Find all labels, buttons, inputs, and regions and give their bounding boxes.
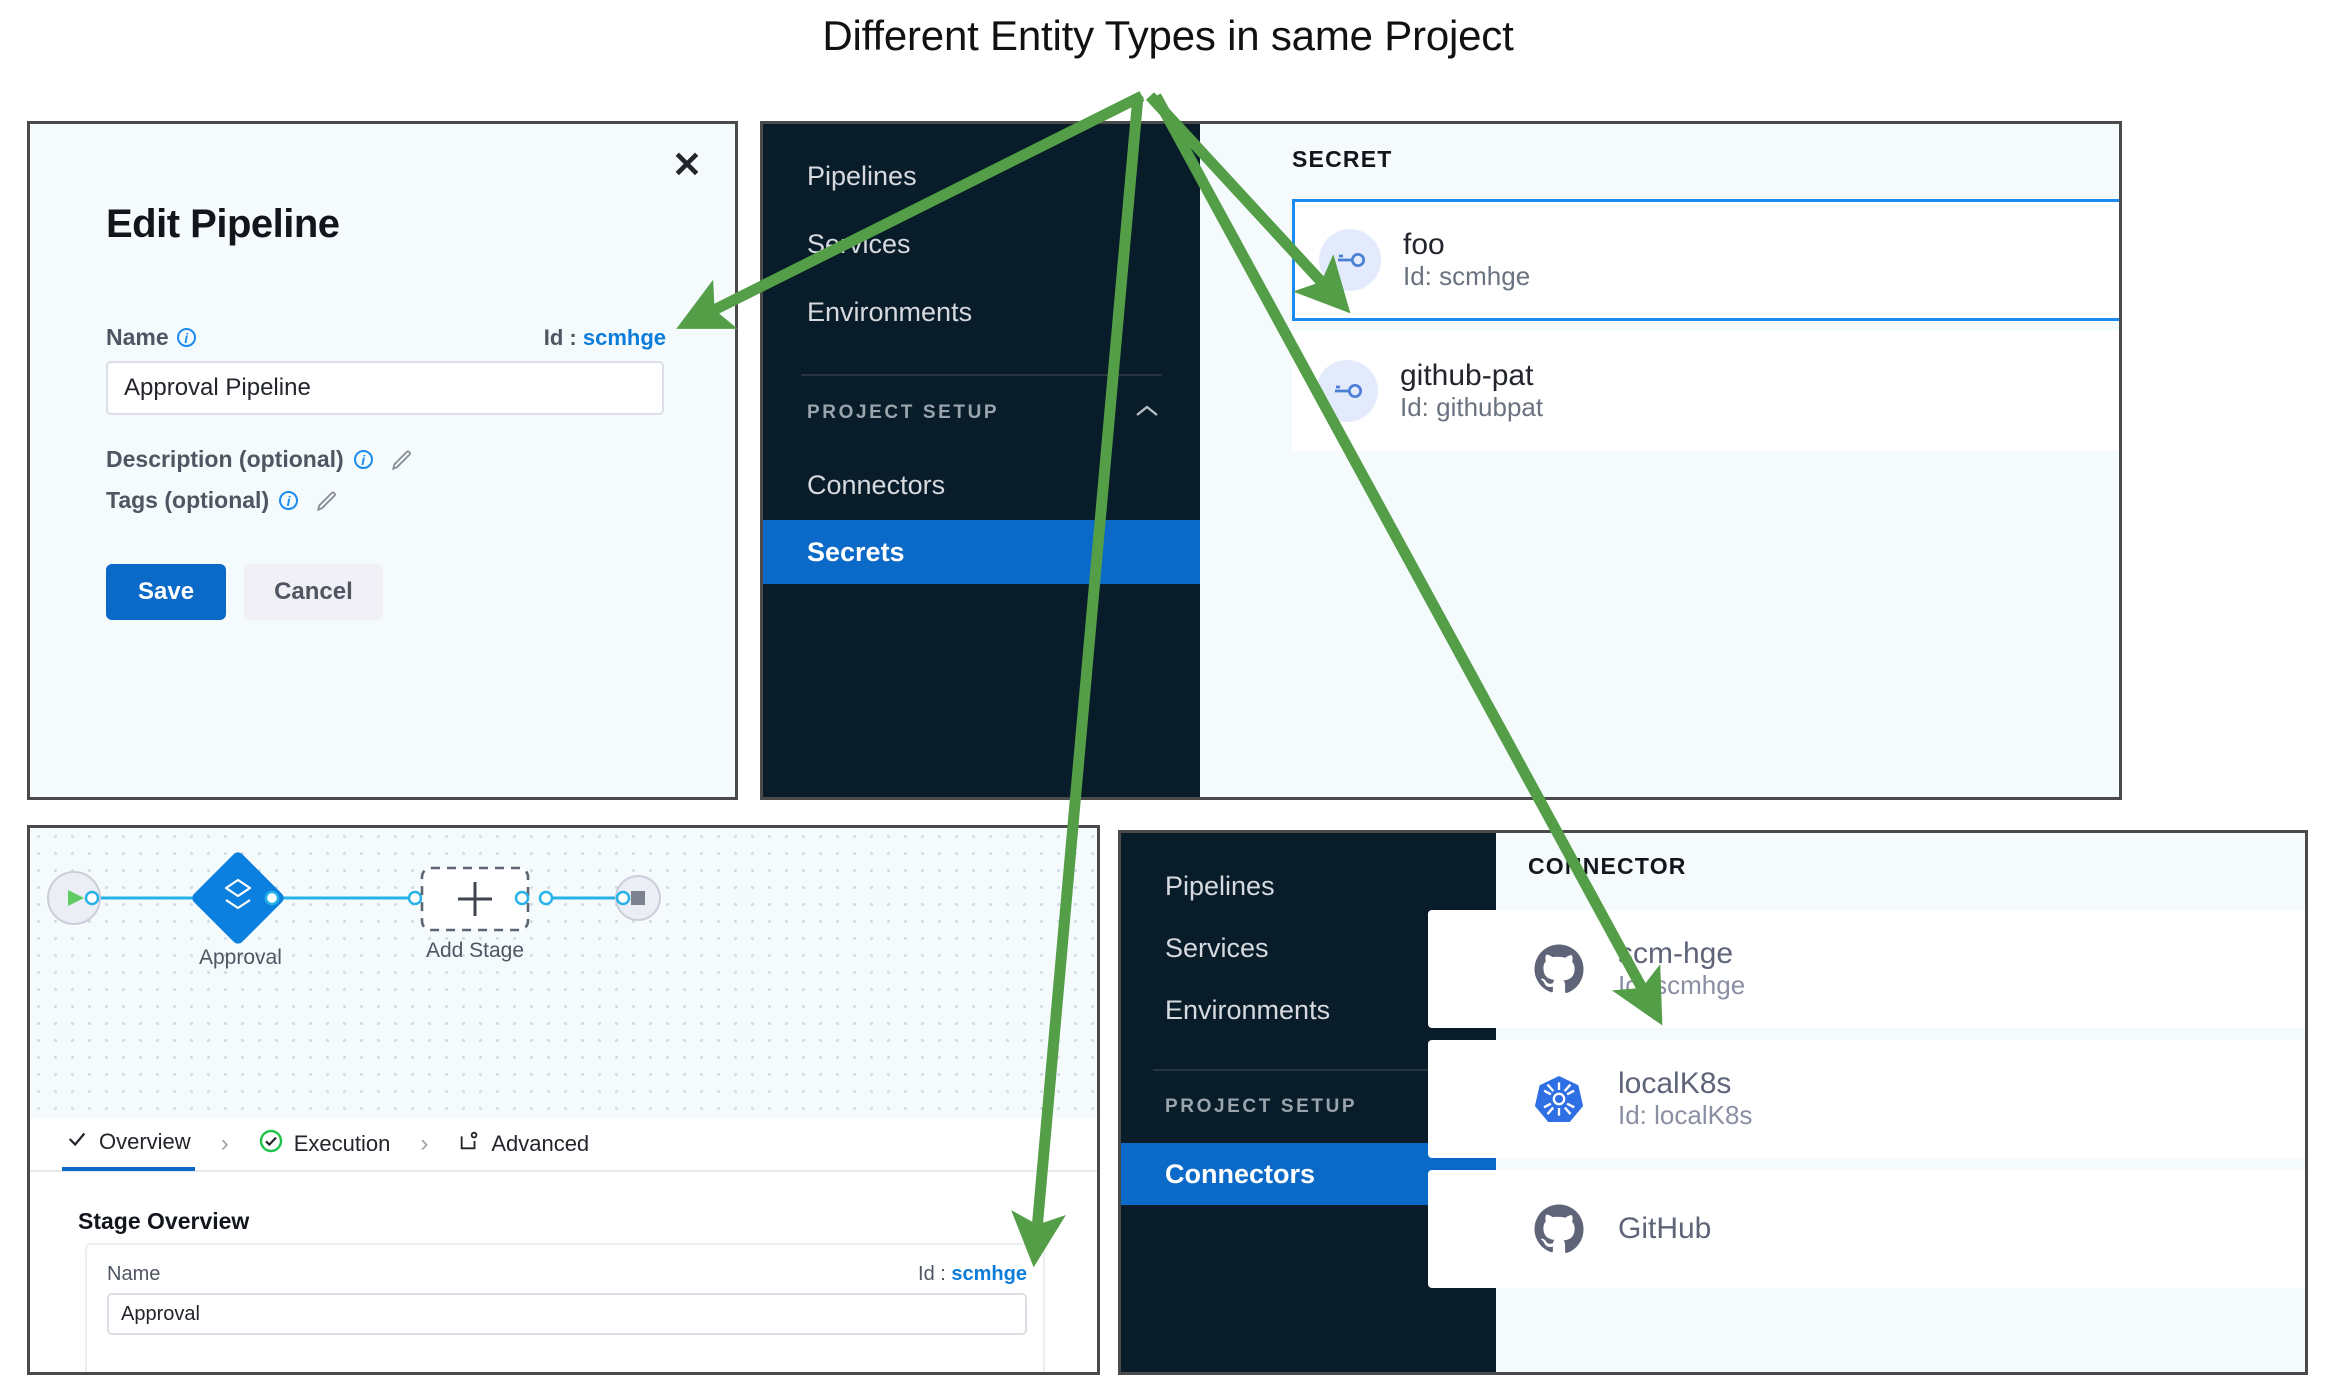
- sidebar-item-connectors[interactable]: Connectors: [763, 450, 1200, 520]
- tab-overview[interactable]: Overview: [62, 1117, 195, 1171]
- sidebar-item-secrets[interactable]: Secrets: [763, 520, 1200, 584]
- stage-node-label: Approval: [199, 946, 282, 970]
- secrets-screen-panel: Pipelines Services Environments PROJECT …: [760, 121, 2122, 800]
- connectors-screen-panel: Pipelines Services Environments PROJECT …: [1118, 830, 2308, 1375]
- pipeline-canvas[interactable]: Approval Add Stage: [30, 828, 1097, 1118]
- tab-separator: ›: [420, 1130, 428, 1158]
- edit-pipeline-panel: ✕ Edit Pipeline Namei Id : scmhge Approv…: [27, 121, 738, 800]
- sidebar-item-environments[interactable]: Environments: [763, 278, 1200, 346]
- id-value[interactable]: scmhge: [583, 325, 666, 350]
- stage-screen-panel: Approval Add Stage Overview › Execution …: [27, 825, 1100, 1375]
- tab-separator: ›: [221, 1130, 229, 1158]
- list-item[interactable]: scm-hge Id: scmhge: [1428, 910, 2308, 1028]
- advanced-icon: [458, 1130, 480, 1158]
- pipeline-name-input[interactable]: Approval Pipeline: [106, 361, 664, 415]
- sidebar-item-label: Secrets: [807, 537, 905, 568]
- key-icon: [1319, 229, 1381, 291]
- sidebar-item-label: Pipelines: [1165, 871, 1275, 902]
- list-item-id: Id: scmhge: [1618, 971, 1745, 1001]
- list-item-id: Id: scmhge: [1403, 262, 1530, 292]
- name-label: Name: [106, 324, 169, 350]
- list-item-name: localK8s: [1618, 1067, 1752, 1102]
- sidebar-item-label: Services: [1165, 933, 1269, 964]
- sidebar-section-label: PROJECT SETUP: [1165, 1096, 1357, 1118]
- stage-name-label-row: Name Id : scmhge: [107, 1263, 1027, 1286]
- sidebar-item-label: Pipelines: [807, 161, 917, 192]
- tab-label: Execution: [294, 1131, 391, 1157]
- list-item-text: GitHub: [1618, 1212, 1711, 1247]
- page-title-edit-pipeline: Edit Pipeline: [106, 202, 340, 247]
- id-prefix: Id :: [918, 1263, 951, 1285]
- list-item-text: scm-hge Id: scmhge: [1618, 937, 1745, 1001]
- add-stage-label[interactable]: Add Stage: [414, 939, 536, 963]
- list-item[interactable]: foo Id: scmhge: [1292, 199, 2122, 321]
- check-icon: [66, 1128, 88, 1156]
- list-item-text: foo Id: scmhge: [1403, 228, 1530, 292]
- list-item-id: Id: githubpat: [1400, 393, 1543, 423]
- sidebar-item-label: Connectors: [1165, 1159, 1315, 1190]
- sidebar-item-services[interactable]: Services: [763, 210, 1200, 278]
- list-item-id: Id: localK8s: [1618, 1101, 1752, 1131]
- kubernetes-icon: [1528, 1068, 1590, 1130]
- id-prefix: Id :: [544, 325, 583, 350]
- save-button[interactable]: Save: [106, 564, 226, 620]
- chevron-up-icon[interactable]: [1134, 402, 1160, 425]
- tags-label: Tags (optional): [106, 487, 269, 514]
- stage-id: Id : scmhge: [918, 1263, 1027, 1286]
- info-icon[interactable]: i: [177, 328, 196, 347]
- page-title: Different Entity Types in same Project: [0, 12, 2336, 60]
- sidebar-section-label: PROJECT SETUP: [807, 402, 999, 424]
- github-icon: [1528, 1198, 1590, 1260]
- check-circle-icon: [259, 1129, 283, 1159]
- tab-label: Overview: [99, 1129, 191, 1155]
- name-label-group: Namei: [106, 324, 196, 351]
- id-value[interactable]: scmhge: [951, 1263, 1027, 1285]
- stage-name-input[interactable]: Approval: [107, 1293, 1027, 1335]
- tab-advanced[interactable]: Advanced: [454, 1117, 593, 1171]
- stage-overview-card: Name Id : scmhge Approval: [85, 1243, 1045, 1375]
- pipeline-id: Id : scmhge: [544, 325, 666, 351]
- pipeline-graph: [30, 828, 1097, 1118]
- key-icon: [1316, 360, 1378, 422]
- list-item-name: github-pat: [1400, 359, 1543, 394]
- list-item-name: foo: [1403, 228, 1530, 263]
- sidebar-item-pipelines[interactable]: Pipelines: [1121, 855, 1496, 917]
- list-item[interactable]: localK8s Id: localK8s: [1428, 1040, 2308, 1158]
- list-item-text: github-pat Id: githubpat: [1400, 359, 1543, 423]
- sidebar-item-label: Services: [807, 229, 911, 260]
- pencil-icon[interactable]: [314, 488, 340, 514]
- list-item-name: scm-hge: [1618, 937, 1745, 972]
- tab-label: Advanced: [491, 1131, 589, 1157]
- sidebar-item-label: Connectors: [807, 470, 945, 501]
- github-icon: [1528, 938, 1590, 1000]
- connectors-content: CONNECTOR scm-hge Id: scmhge: [1496, 833, 2308, 1372]
- section-title-stage-overview: Stage Overview: [78, 1208, 249, 1235]
- info-icon[interactable]: i: [354, 450, 373, 469]
- secrets-sidebar: Pipelines Services Environments PROJECT …: [763, 124, 1200, 797]
- tags-row: Tags (optional) i: [106, 487, 340, 514]
- sidebar-item-label: Environments: [807, 297, 972, 328]
- stage-name-label: Name: [107, 1263, 160, 1286]
- list-item-text: localK8s Id: localK8s: [1618, 1067, 1752, 1131]
- list-item[interactable]: github-pat Id: githubpat: [1292, 331, 2122, 451]
- info-icon[interactable]: i: [279, 491, 298, 510]
- list-item[interactable]: GitHub: [1428, 1170, 2308, 1288]
- tab-execution[interactable]: Execution: [255, 1117, 395, 1171]
- sidebar-section-project-setup[interactable]: PROJECT SETUP: [763, 376, 1200, 450]
- secrets-content: SECRET foo Id: scmhge: [1200, 124, 2122, 797]
- list-header-secret: SECRET: [1292, 146, 1393, 173]
- description-label: Description (optional): [106, 446, 344, 473]
- sidebar-item-pipelines[interactable]: Pipelines: [763, 142, 1200, 210]
- name-label-row: Namei Id : scmhge: [106, 324, 666, 351]
- list-header-connector: CONNECTOR: [1528, 853, 1687, 880]
- sidebar-item-label: Environments: [1165, 995, 1330, 1026]
- close-icon[interactable]: ✕: [667, 146, 707, 186]
- description-row: Description (optional) i: [106, 446, 415, 473]
- list-item-name: GitHub: [1618, 1212, 1711, 1247]
- dialog-actions: Save Cancel: [106, 564, 383, 620]
- stage-tabbar: Overview › Execution › Advanced: [30, 1118, 1097, 1172]
- cancel-button[interactable]: Cancel: [244, 564, 383, 620]
- pencil-icon[interactable]: [389, 447, 415, 473]
